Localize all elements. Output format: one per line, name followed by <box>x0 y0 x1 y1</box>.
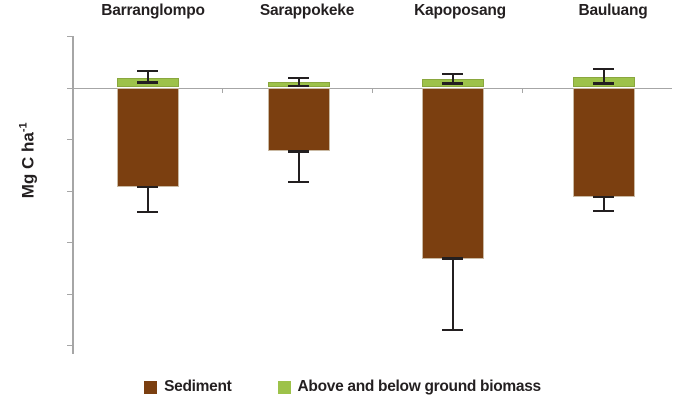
error-cap-lower-sediment-kapoposang <box>442 329 463 331</box>
bar-sediment-barranglompo <box>117 88 179 187</box>
category-label-row: Barranglompo Sarappokeke Kapoposang Baul… <box>88 2 668 26</box>
error-cap-lower-biomass-barranglompo <box>137 81 158 83</box>
error-cap-lower-sediment-sarappokeke <box>288 181 309 183</box>
category-label-bauluang: Bauluang <box>538 2 685 20</box>
y-tick-mark-neg10 <box>67 36 72 37</box>
error-bar-sediment-kapoposang <box>452 259 454 330</box>
y-axis-title: Mg C ha-1 <box>18 80 39 240</box>
y-axis-line <box>72 36 74 354</box>
bar-chart: Barranglompo Sarappokeke Kapoposang Baul… <box>0 0 685 407</box>
category-label-sarappokeke: Sarappokeke <box>232 2 382 20</box>
error-cap-upper-biomass-kapoposang <box>442 73 463 75</box>
error-cap-upper-sediment-barranglompo <box>137 186 158 188</box>
y-axis-title-base: Mg C ha <box>18 132 37 198</box>
legend-label-biomass: Above and below ground biomass <box>298 378 541 396</box>
error-cap-upper-biomass-sarappokeke <box>288 77 309 79</box>
error-cap-lower-biomass-kapoposang <box>442 82 463 84</box>
bar-sediment-sarappokeke <box>268 88 330 152</box>
legend-swatch-sediment-icon <box>144 381 157 394</box>
y-tick-mark-30 <box>67 242 72 243</box>
category-label-kapoposang: Kapoposang <box>385 2 535 20</box>
bar-sediment-kapoposang <box>422 88 484 259</box>
error-cap-upper-biomass-barranglompo <box>137 70 158 72</box>
error-cap-lower-biomass-sarappokeke <box>288 85 309 87</box>
bar-sediment-bauluang <box>573 88 635 198</box>
y-tick-mark-20 <box>67 191 72 192</box>
category-divider-3 <box>522 88 523 93</box>
error-bar-sediment-barranglompo <box>147 187 149 212</box>
error-cap-upper-sediment-kapoposang <box>442 257 463 259</box>
y-axis-title-exponent: -1 <box>18 122 30 132</box>
plot-area: 10 0 10 20 30 40 50 <box>72 36 672 354</box>
category-divider-2 <box>372 88 373 93</box>
legend-item-biomass: Above and below ground biomass <box>278 378 541 396</box>
error-cap-lower-biomass-bauluang <box>593 82 614 84</box>
chart-legend: Sediment Above and below ground biomass <box>0 378 685 396</box>
legend-swatch-biomass-icon <box>278 381 291 394</box>
error-bar-sediment-bauluang <box>603 197 605 211</box>
error-cap-upper-biomass-bauluang <box>593 68 614 70</box>
y-tick-mark-40 <box>67 294 72 295</box>
category-divider-1 <box>222 88 223 93</box>
error-cap-lower-sediment-bauluang <box>593 210 614 212</box>
legend-label-sediment: Sediment <box>164 378 231 396</box>
error-cap-upper-sediment-bauluang <box>593 196 614 198</box>
error-cap-upper-sediment-sarappokeke <box>288 150 309 152</box>
category-label-barranglompo: Barranglompo <box>78 2 228 20</box>
error-cap-lower-sediment-barranglompo <box>137 211 158 213</box>
y-tick-mark-50 <box>67 345 72 346</box>
legend-item-sediment: Sediment <box>144 378 231 396</box>
error-bar-biomass-bauluang <box>603 69 605 83</box>
error-bar-sediment-sarappokeke <box>298 151 300 181</box>
y-tick-mark-10 <box>67 139 72 140</box>
